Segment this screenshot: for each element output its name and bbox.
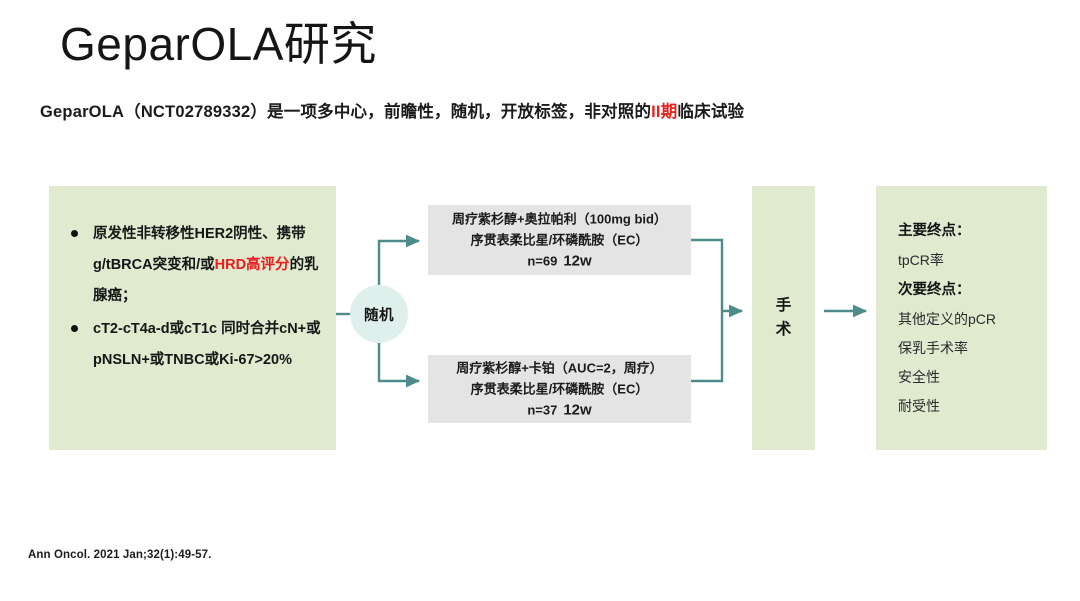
bullet-icon (71, 230, 78, 237)
connector-arms-merge (691, 240, 722, 381)
randomization-node: 随机 (350, 285, 408, 343)
criterion-highlight: HRD高评分 (215, 257, 290, 273)
list-item: cT2-cT4a-d或cT1c 同时合并cN+或pNSLN+或TNBC或Ki-6… (67, 314, 326, 376)
connector-random-to-arm-b (379, 343, 419, 381)
arm-a-sample-size-row: n=6912w (428, 251, 691, 272)
arm-a-regimen-line2: 序贯表柔比星/环磷酰胺（EC） (428, 230, 691, 251)
secondary-endpoint-item: 其他定义的pCR (898, 305, 1039, 334)
connector-random-to-arm-a (379, 241, 419, 285)
arm-b-regimen-line2: 序贯表柔比星/环磷酰胺（EC） (428, 379, 691, 400)
treatment-arm-a-box: 周疗紫杉醇+奥拉帕利（100mg bid） 序贯表柔比星/环磷酰胺（EC） n=… (428, 205, 691, 275)
treatment-arm-b-text: 周疗紫杉醇+卡铂（AUC=2，周疗） 序贯表柔比星/环磷酰胺（EC） n=371… (428, 358, 691, 421)
endpoints-list: 主要终点： tpCR率 次要终点： 其他定义的pCR 保乳手术率 安全性 耐受性 (898, 216, 1039, 421)
arm-b-duration: 12w (557, 402, 591, 419)
endpoints-box: 主要终点： tpCR率 次要终点： 其他定义的pCR 保乳手术率 安全性 耐受性 (876, 186, 1047, 450)
surgery-label: 手 术 (752, 294, 815, 342)
treatment-arm-a-text: 周疗紫杉醇+奥拉帕利（100mg bid） 序贯表柔比星/环磷酰胺（EC） n=… (428, 209, 691, 272)
eligibility-criteria-list: 原发性非转移性HER2阴性、携带g/tBRCA突变和/或HRD高评分的乳腺癌； … (67, 219, 326, 376)
secondary-endpoint-item: 安全性 (898, 363, 1039, 392)
randomization-label: 随机 (364, 304, 394, 325)
arm-b-sample-size: n=37 (527, 403, 557, 418)
slide-canvas: GeparOLA研究 GeparOLA（NCT02789332）是一项多中心，前… (0, 0, 1080, 601)
secondary-endpoint-header: 次要终点： (898, 275, 1039, 305)
secondary-endpoint-item: 耐受性 (898, 392, 1039, 421)
eligibility-criteria-box: 原发性非转移性HER2阴性、携带g/tBRCA突变和/或HRD高评分的乳腺癌； … (49, 186, 336, 450)
arm-b-sample-size-row: n=3712w (428, 400, 691, 421)
criterion-text-pre: cT2-cT4a-d或cT1c 同时合并cN+或pNSLN+或TNBC或Ki-6… (93, 321, 321, 368)
arm-a-regimen-line1: 周疗紫杉醇+奥拉帕利（100mg bid） (428, 209, 691, 230)
secondary-endpoint-item: 保乳手术率 (898, 334, 1039, 363)
primary-endpoint-header: 主要终点： (898, 216, 1039, 246)
arm-a-duration: 12w (557, 253, 591, 270)
bullet-icon (71, 325, 78, 332)
treatment-arm-b-box: 周疗紫杉醇+卡铂（AUC=2，周疗） 序贯表柔比星/环磷酰胺（EC） n=371… (428, 355, 691, 423)
primary-endpoint-item: tpCR率 (898, 246, 1039, 275)
surgery-label-line1: 手 (752, 294, 815, 318)
arm-b-regimen-line1: 周疗紫杉醇+卡铂（AUC=2，周疗） (428, 358, 691, 379)
study-flow-diagram: 原发性非转移性HER2阴性、携带g/tBRCA突变和/或HRD高评分的乳腺癌； … (0, 0, 1080, 601)
surgery-label-line2: 术 (752, 318, 815, 342)
surgery-box: 手 术 (752, 186, 815, 450)
arm-a-sample-size: n=69 (527, 254, 557, 269)
source-citation: Ann Oncol. 2021 Jan;32(1):49-57. (28, 549, 211, 561)
list-item: 原发性非转移性HER2阴性、携带g/tBRCA突变和/或HRD高评分的乳腺癌； (67, 219, 326, 312)
